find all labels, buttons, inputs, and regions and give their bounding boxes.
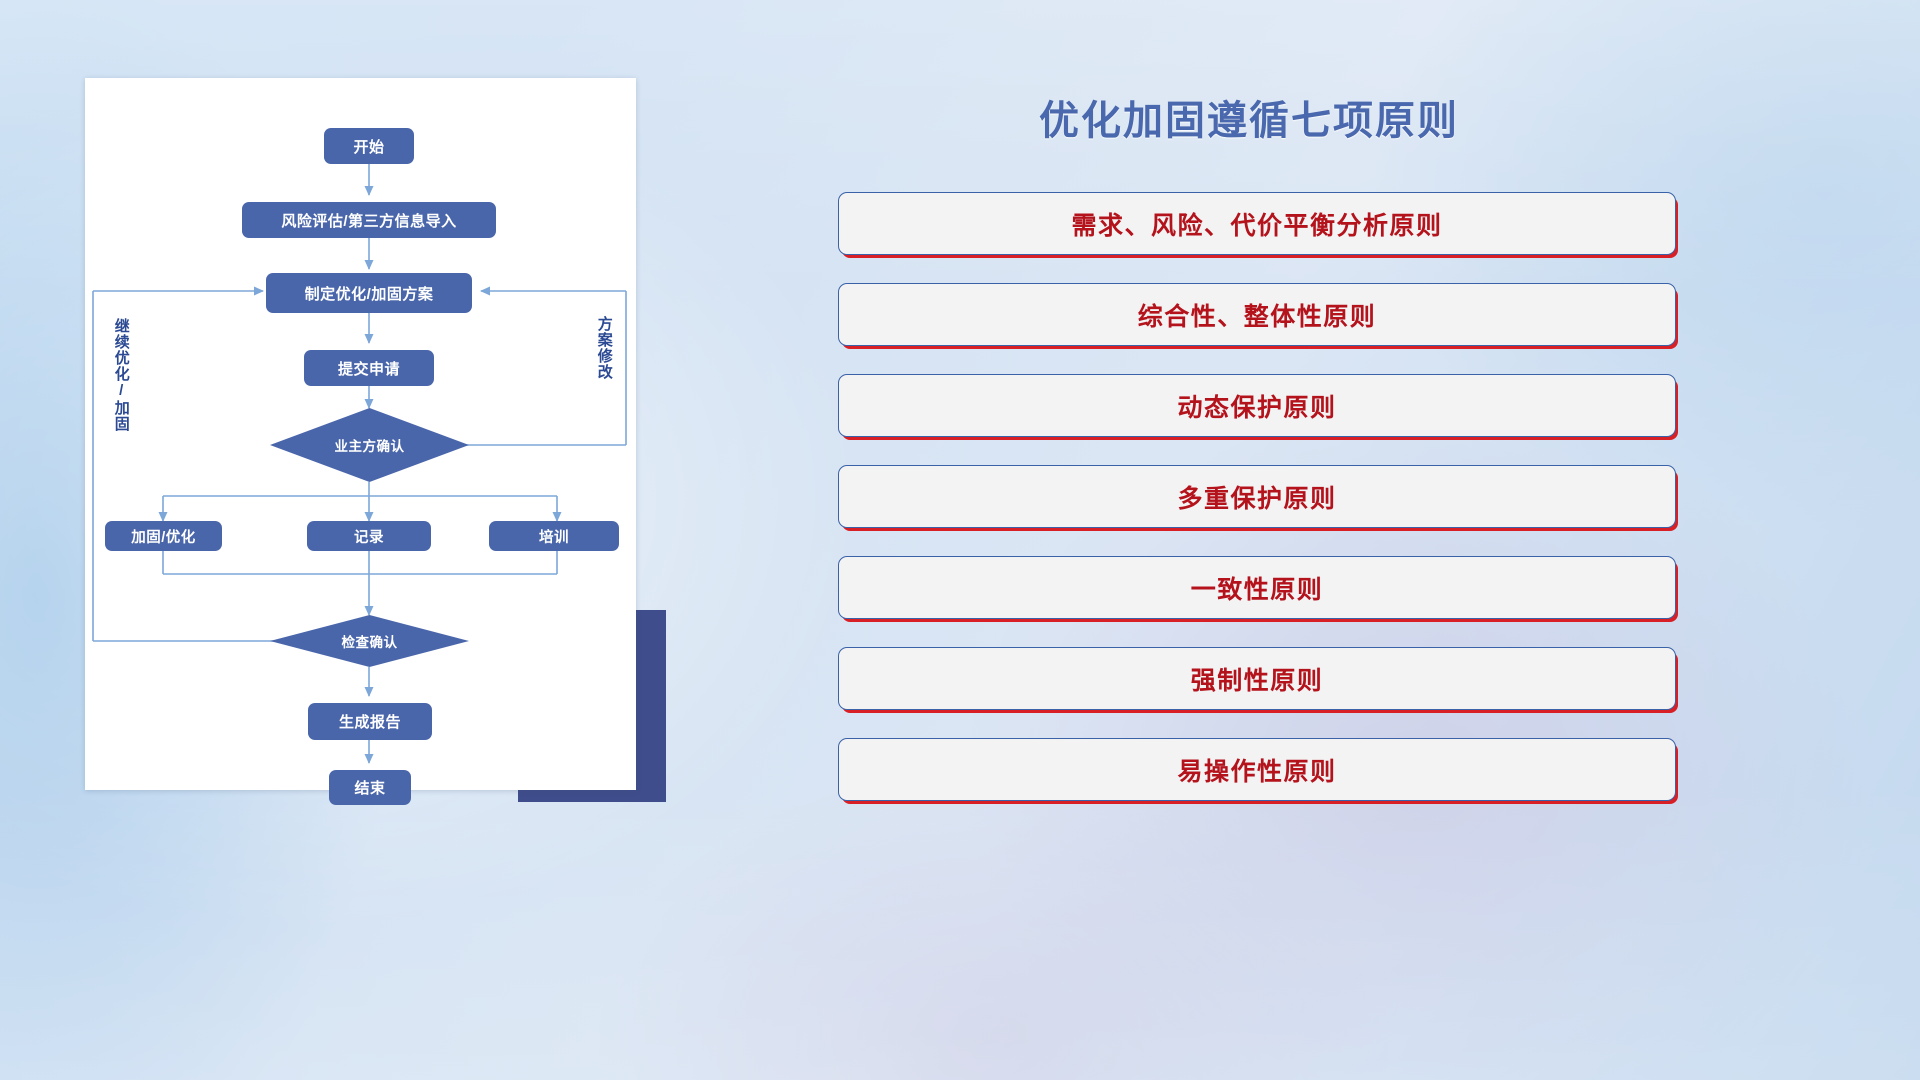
- flow-node-start[interactable]: 开始: [324, 128, 414, 164]
- flowchart: 开始 风险评估/第三方信息导入 制定优化/加固方案 提交申请 业主方确认 加固/…: [85, 78, 636, 790]
- flow-node-end[interactable]: 结束: [329, 770, 411, 805]
- flow-node-label: 结束: [354, 777, 385, 798]
- principle-label: 易操作性原则: [1177, 752, 1336, 788]
- flow-node-label: 制定优化/加固方案: [305, 283, 434, 304]
- page-title: 优化加固遵循七项原则: [830, 88, 1668, 146]
- flow-node-reinforce[interactable]: 加固/优化: [105, 521, 222, 551]
- flow-node-label: 加固/优化: [131, 526, 196, 547]
- principle-label: 需求、风险、代价平衡分析原则: [1071, 206, 1442, 242]
- principle-item-1[interactable]: 需求、风险、代价平衡分析原则: [838, 192, 1676, 255]
- principle-label: 综合性、整体性原则: [1138, 297, 1377, 333]
- flow-node-label: 记录: [354, 526, 384, 547]
- flow-node-label: 培训: [539, 526, 569, 547]
- flow-node-generate-report[interactable]: 生成报告: [308, 703, 432, 740]
- principle-item-3[interactable]: 动态保护原则: [838, 374, 1676, 437]
- principle-list: 需求、风险、代价平衡分析原则 综合性、整体性原则 动态保护原则 多重保护原则 一…: [838, 192, 1676, 829]
- principle-label: 多重保护原则: [1177, 479, 1336, 515]
- principle-label: 强制性原则: [1191, 661, 1324, 697]
- flow-node-label: 风险评估/第三方信息导入: [281, 210, 456, 231]
- principles-panel: 优化加固遵循七项原则 需求、风险、代价平衡分析原则 综合性、整体性原则 动态保护…: [830, 0, 1830, 1080]
- flow-node-training[interactable]: 培训: [489, 521, 619, 551]
- principle-item-7[interactable]: 易操作性原则: [838, 738, 1676, 801]
- principle-label: 一致性原则: [1191, 570, 1324, 606]
- flow-node-record[interactable]: 记录: [307, 521, 431, 551]
- principle-item-2[interactable]: 综合性、整体性原则: [838, 283, 1676, 346]
- flow-node-label: 提交申请: [338, 358, 400, 379]
- flow-node-label: 生成报告: [339, 711, 401, 732]
- flow-node-submit-application[interactable]: 提交申请: [304, 350, 434, 386]
- principle-label: 动态保护原则: [1177, 388, 1336, 424]
- flow-node-risk-assessment[interactable]: 风险评估/第三方信息导入: [242, 202, 496, 238]
- principle-item-5[interactable]: 一致性原则: [838, 556, 1676, 619]
- flow-node-label: 开始: [353, 136, 384, 157]
- flow-node-plan[interactable]: 制定优化/加固方案: [266, 273, 472, 313]
- principle-item-6[interactable]: 强制性原则: [838, 647, 1676, 710]
- flowchart-card: 开始 风险评估/第三方信息导入 制定优化/加固方案 提交申请 业主方确认 加固/…: [85, 78, 636, 790]
- flow-node-label: 检查确认: [342, 631, 398, 651]
- flow-edge-label-plan-revision: 方案修改: [596, 316, 612, 380]
- flow-node-label: 业主方确认: [335, 435, 405, 455]
- flow-edge-label-continue-optimize: 继续优化/加固: [113, 318, 129, 432]
- principle-item-4[interactable]: 多重保护原则: [838, 465, 1676, 528]
